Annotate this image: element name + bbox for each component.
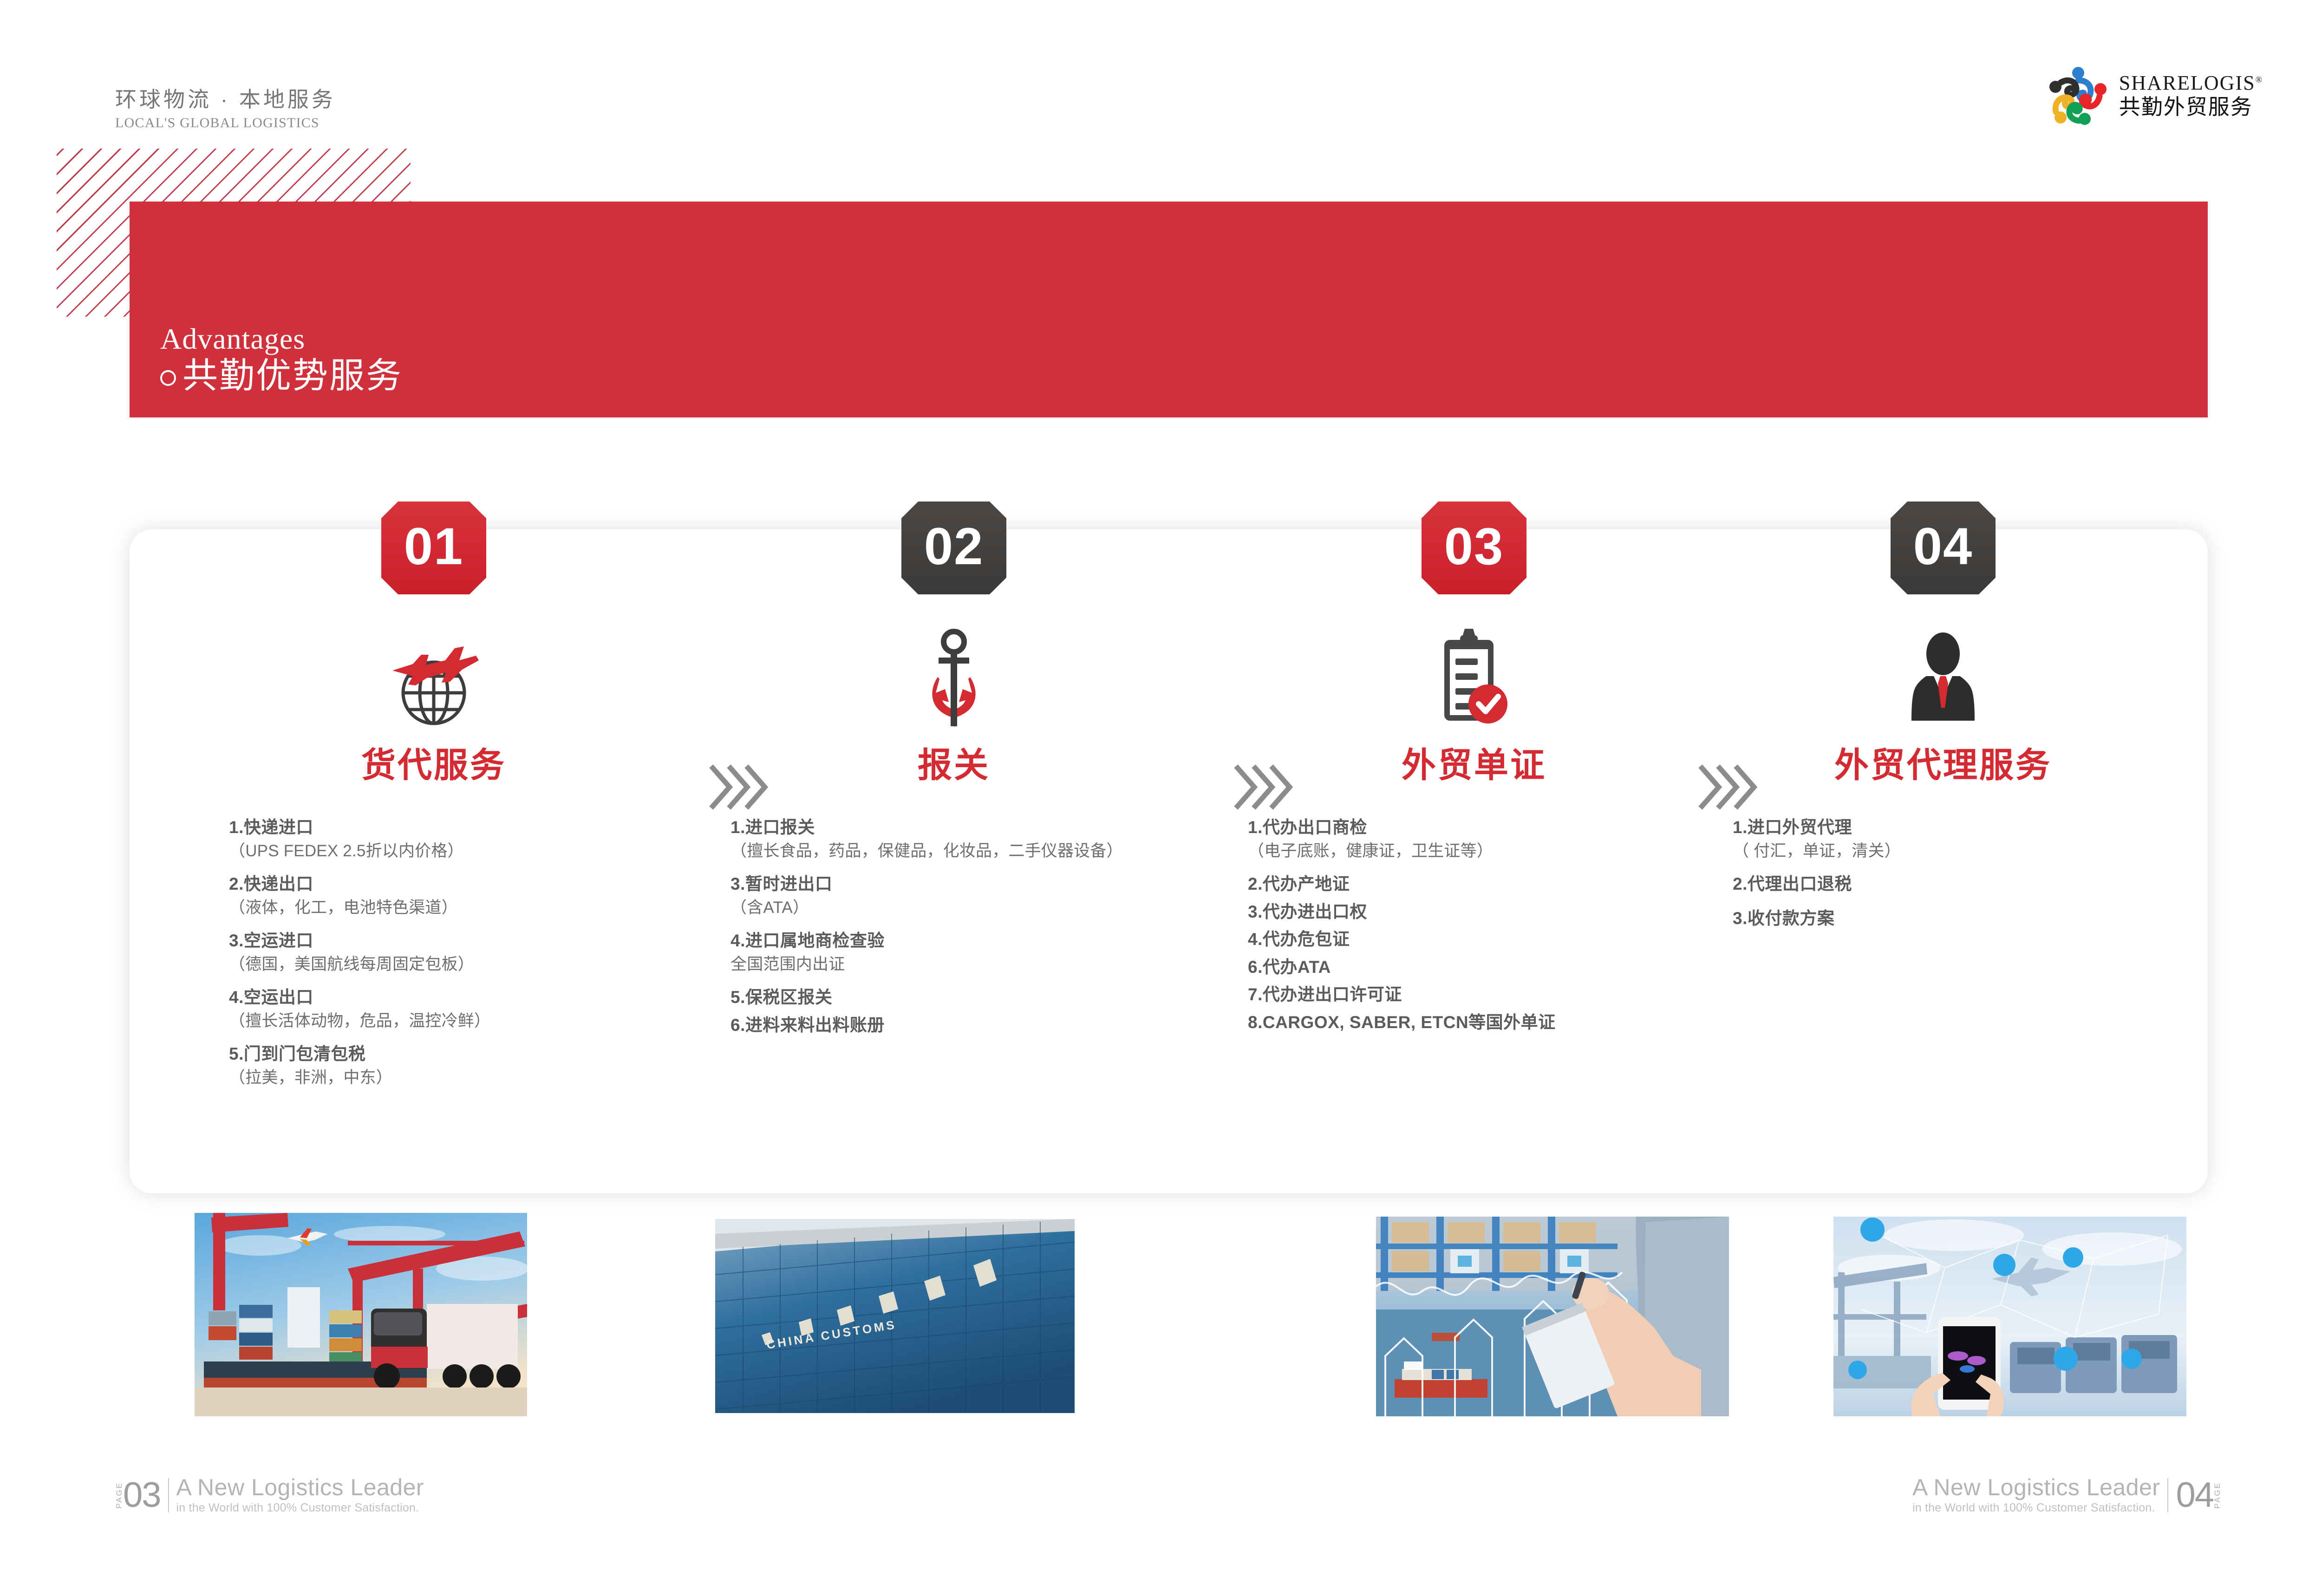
banner-title-cn: 共勤优势服务 [183, 355, 403, 397]
footer-left: PAGE 03 A New Logistics Leader in the Wo… [115, 1476, 424, 1515]
column-bullets-2: 1.进口报关 （擅长食品，药品，保健品，化妆品，二手仪器设备） 3.暂时进出口 … [719, 816, 1188, 1036]
footer-right-divider [2167, 1478, 2168, 1512]
section-banner: Advantages 共勤优势服务 [130, 202, 2208, 417]
bullet-item: 2.代理出口退税 [1733, 873, 2178, 896]
bullet-item: 6.代办ATA [1248, 956, 1709, 979]
anchor-icon [719, 623, 1188, 735]
logo-name-cn: 共勤外贸服务 [2119, 96, 2263, 117]
footer-right-text: A New Logistics Leader in the World with… [1912, 1476, 2160, 1515]
advantage-column-1[interactable]: 01 货代服务 1.快递进口 [199, 502, 668, 1099]
bullet-item: 4.进口属地商检查验 全国范围内出证 [731, 929, 1188, 975]
chevrons-right-icon-2 [1234, 764, 1293, 810]
column-title-4: 外贸代理服务 [1709, 737, 2178, 787]
step-badge-03: 03 [1422, 502, 1526, 594]
businessman-icon [1709, 623, 2178, 735]
footer-left-page-number: 03 [123, 1479, 161, 1511]
circle-bullet-icon [160, 370, 176, 386]
footer-right-tagline: A New Logistics Leader [1912, 1476, 2160, 1499]
footer-right-subtagline: in the World with 100% Customer Satisfac… [1912, 1501, 2155, 1515]
brand-name-cn: 环球物流 · 本地服务 [115, 83, 336, 113]
column-title-3: 外贸单证 [1239, 737, 1709, 787]
column-bullets-3: 1.代办出口商检 （电子底账，健康证，卫生证等） 2.代办产地证 3.代办进出口… [1239, 816, 1709, 1034]
footer-left-text: A New Logistics Leader in the World with… [176, 1476, 424, 1515]
column-bullets-1: 1.快递进口 （UPS FEDEX 2.5折以内价格） 2.快递出口 （液体，化… [199, 816, 668, 1088]
bullet-item: 1.代办出口商检 （电子底账，健康证，卫生证等） [1248, 816, 1709, 861]
bullet-item: 1.进口外贸代理 （ 付汇，单证，清关） [1733, 816, 2178, 861]
bullet-item: 7.代办进出口许可证 [1248, 983, 1709, 1006]
bullet-item: 5.保税区报关 [731, 986, 1188, 1009]
advantage-column-4[interactable]: 04 外贸代理服务 1.进口外贸代理 （ 付汇，单证，清关） 2.代理出口退税 [1709, 502, 2178, 941]
footer-right-page-label: PAGE [2213, 1482, 2221, 1509]
bullet-item: 1.进口报关 （擅长食品，药品，保健品，化妆品，二手仪器设备） [731, 816, 1188, 861]
bullet-item: 4.代办危包证 [1248, 928, 1709, 951]
bullet-item: 3.代办进出口权 [1248, 900, 1709, 924]
bullet-item: 8.CARGOX, SABER, ETCN等国外单证 [1248, 1011, 1709, 1034]
step-badge-04: 04 [1891, 502, 1996, 594]
globe-airplane-icon [199, 623, 668, 735]
footer-right-page-number: 04 [2176, 1479, 2213, 1511]
bullet-item: 3.收付款方案 [1733, 907, 2178, 930]
brand-block: 环球物流 · 本地服务 LOCAL'S GLOBAL LOGISTICS [115, 83, 336, 131]
footer-left-divider [168, 1478, 169, 1512]
bullet-item: 1.快递进口 （UPS FEDEX 2.5折以内价格） [229, 816, 668, 861]
brand-name-en: LOCAL'S GLOBAL LOGISTICS [115, 115, 336, 131]
advantage-column-3[interactable]: 03 外贸单证 1.代办出口商检 [1239, 502, 1709, 1039]
logo-name-en: SHARELOGIS® [2119, 73, 2263, 93]
port-crane-truck-airplane-photo [195, 1213, 527, 1416]
footer-left-tagline: A New Logistics Leader [176, 1476, 424, 1499]
step-badge-01: 01 [381, 502, 486, 594]
bullet-item: 3.空运进口 （德国，美国航线每周固定包板） [229, 929, 668, 975]
bullet-item: 2.代办产地证 [1248, 873, 1709, 896]
column-title-1: 货代服务 [199, 737, 668, 787]
column-bullets-4: 1.进口外贸代理 （ 付汇，单证，清关） 2.代理出口退税 3.收付款方案 [1709, 816, 2178, 930]
banner-title-cn-row: 共勤优势服务 [160, 355, 403, 397]
logo-wordmark: SHARELOGIS® 共勤外贸服务 [2119, 73, 2263, 117]
footer-left-subtagline: in the World with 100% Customer Satisfac… [176, 1501, 424, 1515]
banner-text-block: Advantages 共勤优势服务 [160, 322, 403, 397]
bullet-item: 3.暂时进出口 （含ATA） [731, 873, 1188, 918]
chevrons-right-icon-1 [709, 764, 769, 810]
footer-right: A New Logistics Leader in the World with… [1912, 1476, 2221, 1515]
bullet-item: 4.空运出口 （擅长活体动物，危品，温控冷鲜） [229, 986, 668, 1031]
bullet-item: 5.门到门包清包税 （拉美，非洲，中东） [229, 1042, 668, 1088]
registered-trademark-icon: ® [2256, 75, 2263, 85]
china-customs-building-photo: CHINA CUSTOMS [715, 1219, 1075, 1413]
slide-page: 环球物流 · 本地服务 LOCAL'S GLOBAL LOGISTICS [0, 0, 2322, 1596]
bullet-item: 2.快递出口 （液体，化工，电池特色渠道） [229, 873, 668, 918]
chevrons-right-icon-3 [1698, 764, 1758, 810]
company-logo: SHARELOGIS® 共勤外贸服务 [2048, 65, 2263, 125]
footer-left-page-label: PAGE [115, 1482, 123, 1509]
banner-title-en: Advantages [160, 322, 403, 356]
bullet-item: 6.进料来料出料账册 [731, 1014, 1188, 1037]
clipboard-check-icon [1239, 623, 1709, 735]
column-title-2: 报关 [719, 737, 1188, 787]
advantage-column-2[interactable]: 02 报关 1.进口报关 （擅长食品，药品，保健品，化妆品，二手仪器设备） [719, 502, 1188, 1041]
step-badge-02: 02 [901, 502, 1006, 594]
inspector-clipboard-port-photo [1376, 1217, 1729, 1416]
tablet-logistics-network-photo [1833, 1217, 2186, 1416]
sharelogis-people-mark-icon [2048, 65, 2109, 125]
